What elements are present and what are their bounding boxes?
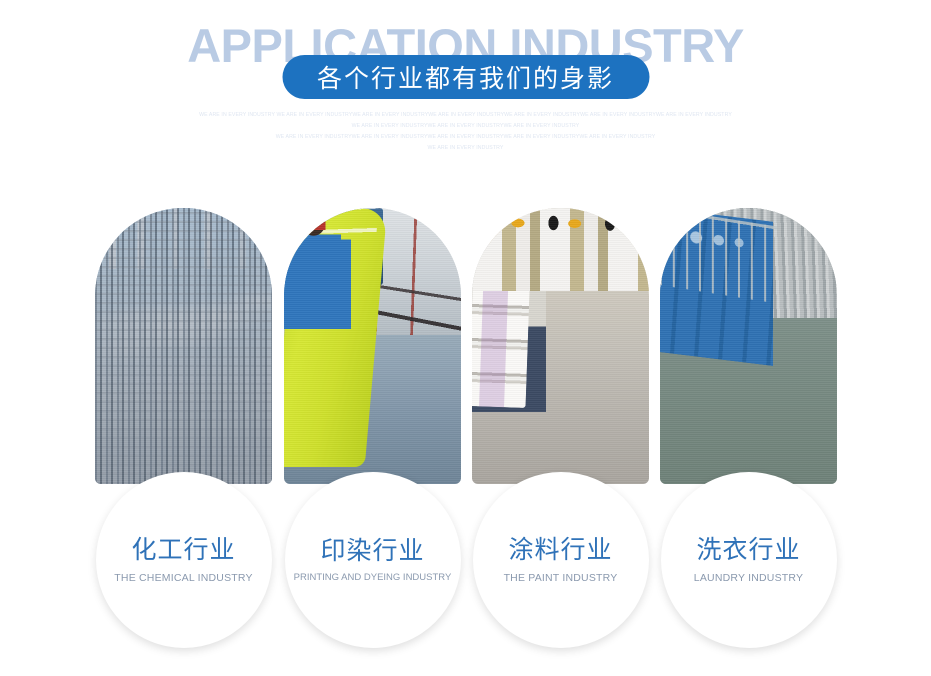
marquee-text-block: WE ARE IN EVERY INDUSTRY WE ARE IN EVERY… (0, 110, 931, 154)
card-photo-printing-dyeing (284, 208, 461, 484)
marquee-line: WE ARE IN EVERY INDUSTRYWE ARE IN EVERY … (0, 121, 931, 132)
card-badge-paint: 涂料行业 THE PAINT INDUSTRY (473, 472, 649, 648)
industry-card-chemical[interactable]: 化工行业 THE CHEMICAL INDUSTRY (95, 208, 272, 484)
card-title-cn: 化工行业 (131, 536, 235, 564)
card-title-en: THE CHEMICAL INDUSTRY (114, 572, 252, 584)
marquee-line: WE ARE IN EVERY INDUSTRYWE ARE IN EVERY … (0, 132, 931, 143)
industry-card-paint[interactable]: 涂料行业 THE PAINT INDUSTRY (472, 208, 649, 484)
card-title-cn: 涂料行业 (508, 536, 612, 564)
industry-card-grid: 化工行业 THE CHEMICAL INDUSTRY 印染行业 PRINTING… (0, 208, 931, 628)
industry-card-printing-dyeing[interactable]: 印染行业 PRINTING AND DYEING INDUSTRY (284, 208, 461, 484)
card-photo-paint (472, 208, 649, 484)
card-title-en: PRINTING AND DYEING INDUSTRY (294, 572, 452, 583)
subtitle-pill-text: 各个行业都有我们的身影 (317, 59, 614, 95)
card-title-cn: 洗衣行业 (696, 536, 800, 564)
photo-layer-red-collar (284, 208, 351, 230)
marquee-line: WE ARE IN EVERY INDUSTRY WE ARE IN EVERY… (0, 110, 931, 121)
page-header: APPLICATION INDUSTRY 各个行业都有我们的身影 WE ARE … (0, 0, 931, 170)
card-badge-laundry: 洗衣行业 LAUNDRY INDUSTRY (661, 472, 837, 648)
photo-layer-roll-cores (472, 208, 649, 238)
application-industry-page: APPLICATION INDUSTRY 各个行业都有我们的身影 WE ARE … (0, 0, 931, 676)
card-badge-printing-dyeing: 印染行业 PRINTING AND DYEING INDUSTRY (285, 472, 461, 648)
marquee-line: WE ARE IN EVERY INDUSTRY (0, 143, 931, 154)
card-photo-chemical (95, 208, 272, 484)
subtitle-pill: 各个行业都有我们的身影 (282, 55, 649, 99)
industry-card-laundry[interactable]: 洗衣行业 LAUNDRY INDUSTRY (660, 208, 837, 484)
card-photo-laundry (660, 208, 837, 484)
card-badge-chemical: 化工行业 THE CHEMICAL INDUSTRY (96, 472, 272, 648)
card-title-en: LAUNDRY INDUSTRY (694, 572, 803, 584)
photo-layer-refinery (95, 208, 272, 484)
card-title-en: THE PAINT INDUSTRY (504, 572, 618, 584)
card-title-cn: 印染行业 (320, 537, 424, 565)
